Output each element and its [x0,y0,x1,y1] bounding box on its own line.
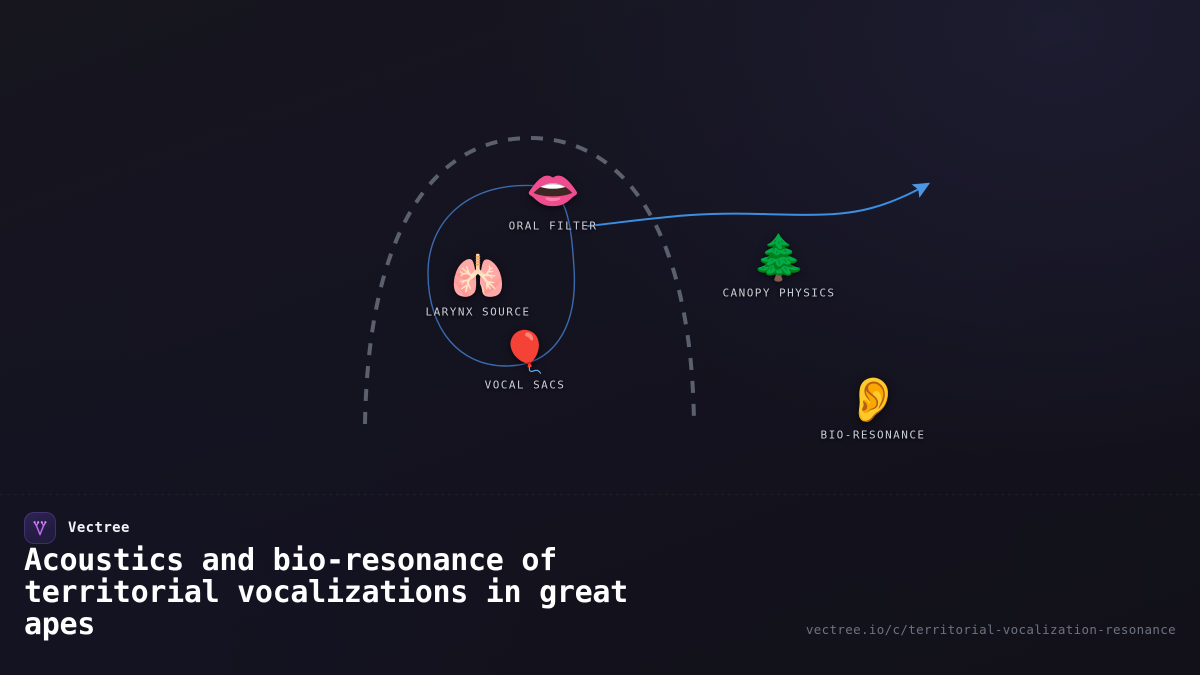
diagram-node-bio-resonance[interactable]: 👂 BIO-RESONANCE [821,379,926,442]
diagram-node-label-bio-resonance: BIO-RESONANCE [821,429,926,442]
diagram-node-vocal-sacs[interactable]: 🎈 VOCAL SACS [485,333,566,392]
diagram-node-larynx-source[interactable]: 🫁 LARYNX SOURCE [426,256,531,319]
diagram-node-label-canopy-physics: CANOPY PHYSICS [722,287,835,300]
share-url: vectree.io/c/territorial-vocalization-re… [806,622,1176,637]
diagram-node-canopy-physics[interactable]: 🌲 CANOPY PHYSICS [722,237,835,300]
share-card: 👄 ORAL FILTER 🫁 LARYNX SOURCE 🎈 VOCAL SA… [0,0,1200,675]
diagram-node-oral-filter[interactable]: 👄 ORAL FILTER [509,170,598,233]
sound-path-arrow-path [588,184,928,226]
evergreen-tree-emoji: 🌲 [752,237,807,281]
diagram-node-label-vocal-sacs: VOCAL SACS [485,379,566,392]
diagram-canvas[interactable]: 👄 ORAL FILTER 🫁 LARYNX SOURCE 🎈 VOCAL SA… [0,0,1200,495]
vectree-logo-icon [24,512,56,544]
ear-emoji: 👂 [846,379,901,423]
mouth-emoji: 👄 [526,170,581,214]
card-footer: Vectree Acoustics and bio-resonance of t… [0,495,1200,675]
diagram-node-label-larynx-source: LARYNX SOURCE [426,306,531,319]
brand-block[interactable]: Vectree [24,512,130,544]
page-title: Acoustics and bio-resonance of territori… [24,545,784,641]
brand-name: Vectree [68,520,130,536]
balloon-emoji: 🎈 [500,333,550,373]
diagram-vector-layer [0,0,1200,495]
lungs-emoji: 🫁 [451,256,506,300]
diagram-node-label-oral-filter: ORAL FILTER [509,220,598,233]
